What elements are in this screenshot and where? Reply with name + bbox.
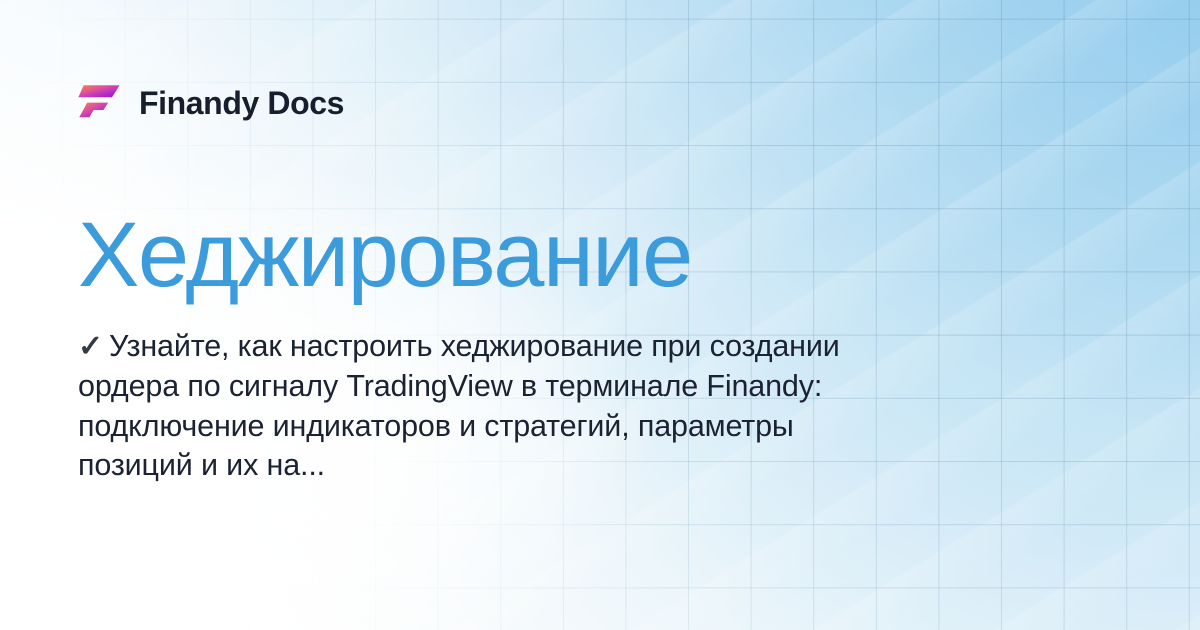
page-description-text: Узнайте, как настроить хеджирование при …: [78, 329, 840, 482]
card-content: Finandy Docs Хеджирование ✓Узнайте, как …: [0, 0, 1200, 630]
og-card: Finandy Docs Хеджирование ✓Узнайте, как …: [0, 0, 1200, 630]
check-icon: ✓: [78, 327, 103, 366]
page-description: ✓Узнайте, как настроить хеджирование при…: [78, 327, 868, 486]
brand-name: Finandy Docs: [139, 87, 344, 119]
finandy-f-logo-icon: [78, 83, 122, 123]
brand-lockup[interactable]: Finandy Docs: [78, 80, 1200, 126]
page-title: Хеджирование: [78, 209, 1200, 301]
